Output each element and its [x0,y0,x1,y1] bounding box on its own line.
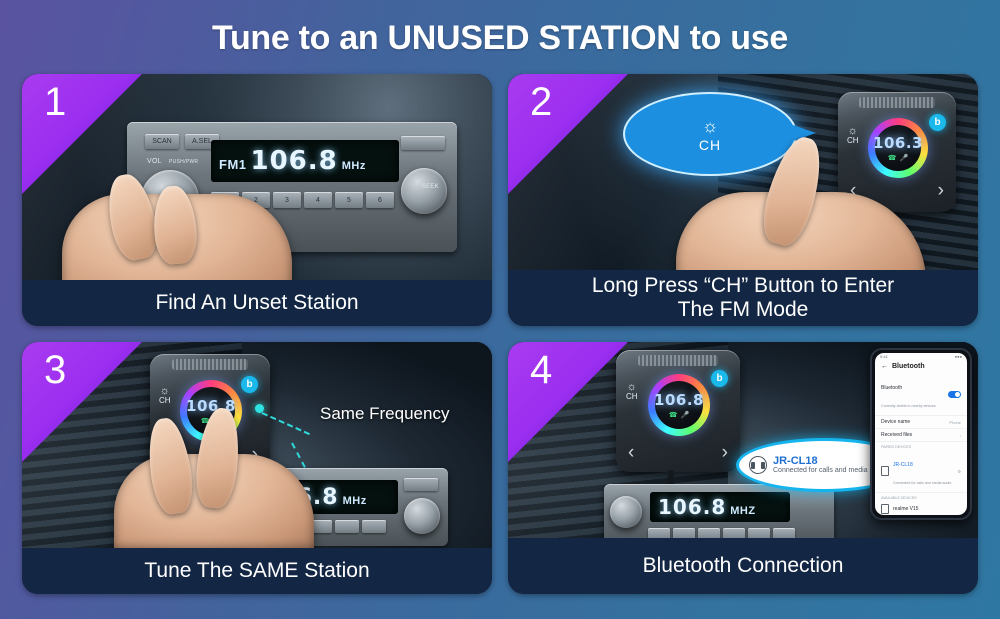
seek-knob[interactable] [404,498,440,534]
ch-button[interactable]: ☼ CH [847,126,859,145]
step-4-caption: Bluetooth Connection [508,538,978,594]
ch-button-callout: ☼ CH [623,92,797,176]
device-frequency: 106.8 [654,391,704,409]
bluetooth-toggle-row[interactable]: Bluetooth Currently visible to nearby de… [875,373,967,416]
preset-button[interactable] [698,528,720,538]
phone-status-bar: 9:41 ●●● [875,353,967,360]
paired-device-name: JR-CL18 [773,455,868,468]
smartphone-mockup[interactable]: 9:41 ●●● ← Bluetooth Bluetooth Currently… [870,348,972,520]
device-screen: 106.8 ☎ 🎤 [655,381,703,429]
steps-grid: SCAN A.SEL VOL PUSH/PWR FM1 106.8 MHz 1 [22,74,978,602]
infographic-page: Tune to an UNUSED STATION to use SCAN A.… [0,0,1000,619]
preset-button[interactable] [362,520,386,533]
paired-device-label: JR-CL18 [893,462,913,468]
phone-screen: 9:41 ●●● ← Bluetooth Bluetooth Currently… [875,353,967,515]
preset-button[interactable]: 3 [273,192,301,208]
step-3-caption: Tune The SAME Station [22,548,492,594]
device-speaker-grille [638,355,717,366]
step-3-photo: ☼ CH 106.8 ☎ 🎤 b ‹ › [22,342,492,548]
step-2-caption-line1: Long Press “CH” Button to Enter [592,274,894,298]
received-files-row[interactable]: Received files › [875,429,967,442]
pressed-button-icon: ☼ [702,116,719,137]
radio-lcd-display: FM1 106.8 MHz [211,140,399,182]
headset-icon [881,466,889,476]
step-1-photo: SCAN A.SEL VOL PUSH/PWR FM1 106.8 MHz 1 [22,74,492,280]
ch-button[interactable]: ☼ CH [626,382,638,401]
available-section-header: AVAILABLE DEVICES [875,493,967,501]
bluetooth-label: Bluetooth [881,385,902,391]
preset-button[interactable] [673,528,695,538]
volume-knob[interactable] [610,496,642,528]
bluetooth-badge: b [929,114,946,131]
phone-icon [881,504,889,514]
seek-knob[interactable] [401,168,447,214]
preset-button[interactable] [648,528,670,538]
headset-icon [749,456,767,474]
status-icons: ●●● [955,354,962,359]
ch-button-label: CH [626,393,638,401]
volume-label: VOL [147,158,162,165]
paired-device-sub: Connected for calls and media audio [893,481,951,485]
paired-device-row[interactable]: JR-CL18 Connected for calls and media au… [875,450,967,493]
ch-button[interactable]: ☼ CH [159,386,171,405]
bluetooth-sub: Currently visible to nearby devices [881,404,936,408]
eject-button[interactable] [404,478,438,491]
preset-button[interactable] [773,528,795,538]
radio-band-label: FM1 [219,157,247,172]
device-frequency: 106.3 [873,134,923,152]
device-name-row[interactable]: Device name Phone [875,416,967,429]
paired-device-status: Connected for calls and media [773,467,868,475]
paired-section-header: PAIRED DEVICES [875,442,967,450]
radio-frequency-value: 106.8 [251,146,338,176]
device-status-icons: ☎ 🎤 [888,154,908,162]
step-number: 1 [44,80,66,125]
preset-button[interactable] [748,528,770,538]
radio-frequency-unit: MHz [342,160,366,172]
step-number: 3 [44,348,66,393]
step-number: 4 [530,348,552,393]
step-panel-1[interactable]: SCAN A.SEL VOL PUSH/PWR FM1 106.8 MHz 1 [22,74,492,326]
microphone-icon: 🎤 [681,411,690,419]
device-speaker-grille [172,359,249,370]
call-icon: ☎ [669,411,678,419]
preset-button[interactable]: 6 [366,192,394,208]
gear-icon[interactable]: ⚙ [957,469,961,474]
seek-label: SEEK [422,184,439,190]
phone-screen-title: Bluetooth [892,363,925,370]
back-arrow-icon[interactable]: ← [881,363,888,370]
step-4-photo: ☼ CH 106.8 ☎ 🎤 b ‹ › [508,342,978,538]
device-name-value: Phone [949,420,961,425]
step-panel-4[interactable]: ☼ CH 106.8 ☎ 🎤 b ‹ › [508,342,978,594]
step-2-photo: ☼ CH 106.3 ☎ 🎤 b ‹ › [508,74,978,270]
step-number: 2 [530,80,552,125]
rgb-light-ring: 106.8 ☎ 🎤 [648,374,710,436]
received-files-label: Received files [881,432,912,438]
preset-button[interactable] [335,520,359,533]
device-speaker-grille [859,97,935,108]
available-device-row[interactable]: realme V15 [875,501,967,515]
scan-button[interactable]: SCAN [145,134,179,149]
ch-button-label: CH [847,137,859,145]
step-2-caption-line2: The FM Mode [592,298,894,322]
preset-button[interactable]: 4 [304,192,332,208]
status-time: 9:41 [880,354,888,359]
chevron-right-icon: › [960,433,961,438]
eject-button[interactable] [401,136,445,150]
callout-label: CH [699,137,721,153]
step-1-caption: Find An Unset Station [22,280,492,326]
microphone-icon: 🎤 [900,154,909,162]
next-button[interactable]: › [938,180,944,202]
next-button[interactable]: › [722,442,728,464]
device-status-icons: ☎ 🎤 [669,411,689,419]
radio-lcd-display: 106.8 MHZ [650,492,790,522]
ch-button-label: CH [159,397,171,405]
rgb-light-ring: 106.3 ☎ 🎤 [868,118,928,178]
available-device-label: realme V15 [893,506,919,512]
preset-button[interactable]: 5 [335,192,363,208]
radio-frequency-unit: MHZ [730,505,755,517]
radio-frequency-value: 106.8 [658,495,726,519]
push-power-label: PUSH/PWR [169,159,198,165]
previous-button[interactable]: ‹ [628,442,634,464]
radio-frequency-unit: MHz [343,495,367,507]
bluetooth-badge: b [711,370,728,387]
same-frequency-annotation: Same Frequency [320,404,449,424]
phone-screen-title-bar: ← Bluetooth [875,360,967,373]
preset-button-row[interactable] [648,528,795,538]
device-name-label: Device name [881,419,910,425]
bluetooth-badge: b [241,376,258,393]
step-panel-3[interactable]: ☼ CH 106.8 ☎ 🎤 b ‹ › [22,342,492,594]
step-2-caption: Long Press “CH” Button to Enter The FM M… [508,270,978,326]
car-stereo-head-unit: 106.8 MHZ [604,484,834,538]
step-panel-2[interactable]: ☼ CH 106.3 ☎ 🎤 b ‹ › [508,74,978,326]
page-title: Tune to an UNUSED STATION to use [0,12,1000,64]
call-icon: ☎ [888,154,897,162]
device-screen: 106.3 ☎ 🎤 [875,125,921,171]
preset-button[interactable] [723,528,745,538]
fm-transmitter-device[interactable]: ☼ CH 106.8 ☎ 🎤 b ‹ › [616,350,740,472]
bluetooth-toggle[interactable] [948,391,961,398]
